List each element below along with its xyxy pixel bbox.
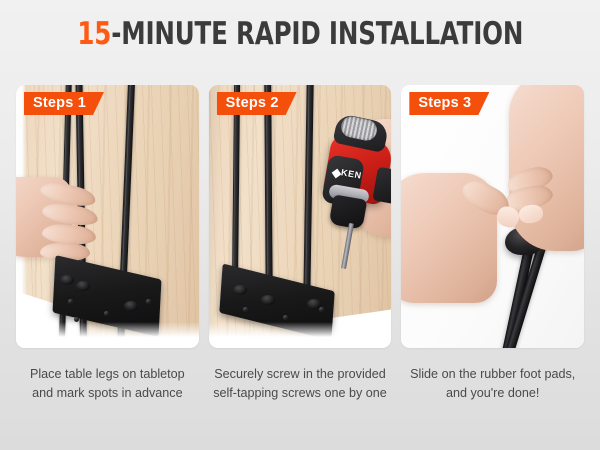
screw-hole: [319, 307, 324, 312]
cordless-drill: KEN: [301, 113, 392, 283]
step-panel-3: Steps 3: [401, 85, 584, 348]
step-captions: Place table legs on tabletop and mark sp…: [16, 365, 584, 425]
weld-joint: [124, 301, 138, 311]
product-instruction-graphic: 15-MINUTE RAPID INSTALLATION: [0, 0, 600, 450]
drill-bit: [341, 223, 354, 269]
screw-hole: [243, 307, 248, 312]
step-panel-2: KEN Steps 2: [209, 85, 392, 348]
caption-line: self-tapping screws one by one: [209, 384, 392, 403]
caption-line: Slide on the rubber foot pads,: [401, 365, 584, 384]
title-number: 15: [77, 16, 111, 52]
screw-hole: [104, 311, 109, 316]
tabletop-front-edge: [16, 322, 199, 348]
caption-step-3: Slide on the rubber foot pads, and you'r…: [401, 365, 584, 425]
weld-joint: [261, 295, 275, 305]
tabletop-front-edge: [209, 322, 392, 348]
step-panel-1: Steps 1: [16, 85, 199, 348]
title-text: 15-MINUTE RAPID INSTALLATION: [77, 16, 523, 52]
step-badge-2: Steps 2: [217, 92, 297, 115]
page-title: 15-MINUTE RAPID INSTALLATION: [0, 16, 600, 52]
caption-step-2: Securely screw in the provided self-tapp…: [209, 365, 392, 425]
weld-joint: [60, 275, 74, 285]
caption-line: and you're done!: [401, 384, 584, 403]
caption-step-1: Place table legs on tabletop and mark sp…: [16, 365, 199, 425]
steps-gallery: Steps 1 KEN: [16, 85, 584, 348]
weld-joint: [233, 285, 247, 295]
step-badge-1: Steps 1: [24, 92, 104, 115]
caption-line: and mark spots in advance: [16, 384, 199, 403]
title-rest: -MINUTE RAPID INSTALLATION: [111, 16, 523, 52]
caption-line: Securely screw in the provided: [209, 365, 392, 384]
screw-hole: [68, 299, 73, 304]
weld-joint: [76, 281, 90, 291]
step-badge-3: Steps 3: [409, 92, 489, 115]
screw-hole: [146, 299, 151, 304]
screw-hole: [283, 315, 288, 320]
caption-line: Place table legs on tabletop: [16, 365, 199, 384]
